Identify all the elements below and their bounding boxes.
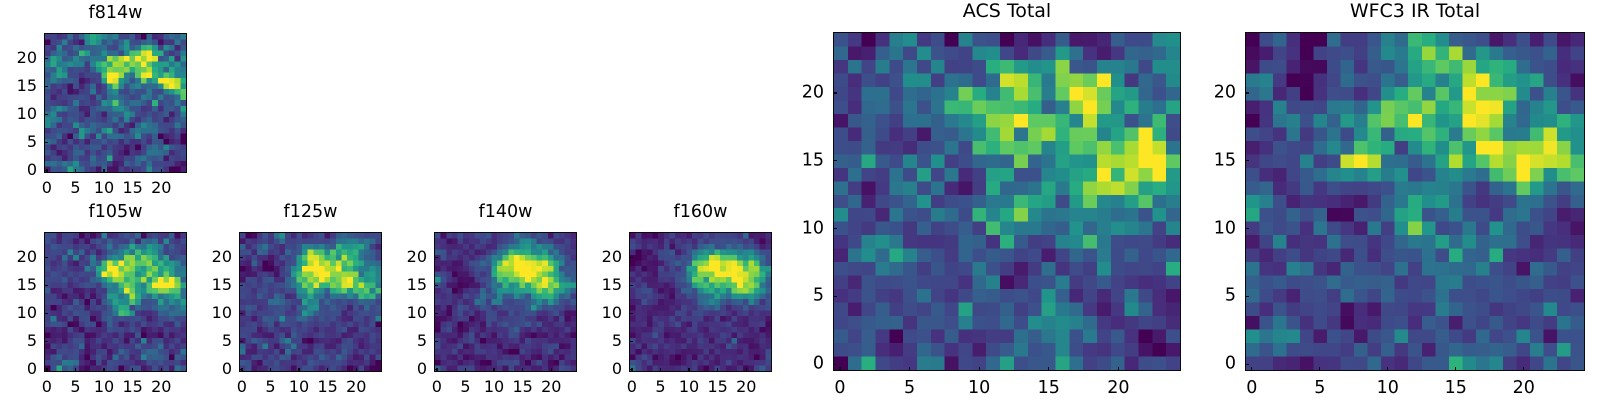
x-tick-mark	[270, 368, 271, 372]
y-tick-mark	[1245, 160, 1249, 161]
x-tick-label: 15	[1445, 380, 1467, 398]
x-tick-mark	[660, 368, 661, 372]
heatmap-image-acs-total	[834, 33, 1180, 370]
y-tick-label: 10	[602, 305, 622, 321]
y-tick-mark	[239, 341, 243, 342]
y-tick-mark	[1245, 228, 1249, 229]
x-tick-mark	[75, 368, 76, 372]
x-tick-label: 15	[1038, 380, 1060, 398]
y-tick-mark	[239, 285, 243, 286]
heatmap-image-f125w	[240, 233, 381, 371]
y-tick-mark	[434, 369, 438, 370]
panel-wfc3-ir-total: WFC3 IR Total 0510152005101520	[1245, 32, 1585, 371]
x-tick-mark	[1387, 367, 1388, 371]
y-tick-mark	[629, 313, 633, 314]
y-tick-label: 0	[813, 355, 824, 373]
y-tick-mark	[44, 58, 48, 59]
heatmap-axes-f140w[interactable]	[434, 232, 577, 372]
x-tick-label: 5	[70, 379, 80, 395]
y-tick-label: 0	[417, 361, 427, 377]
panel-acs-total: ACS Total 0510152005101520	[833, 32, 1181, 371]
x-tick-label: 0	[42, 379, 52, 395]
y-tick-mark	[44, 170, 48, 171]
y-tick-mark	[833, 228, 837, 229]
y-tick-label: 0	[612, 361, 622, 377]
y-tick-label: 10	[212, 305, 232, 321]
x-tick-label: 0	[1246, 380, 1257, 398]
y-tick-mark	[629, 369, 633, 370]
x-tick-mark	[1118, 367, 1119, 371]
panel-title-f125w: f125w	[239, 204, 382, 222]
x-tick-mark	[132, 368, 133, 372]
x-tick-mark	[551, 368, 552, 372]
y-tick-mark	[629, 285, 633, 286]
x-tick-label: 0	[627, 379, 637, 395]
y-tick-label: 15	[17, 277, 37, 293]
x-tick-label: 10	[968, 380, 990, 398]
y-tick-mark	[239, 257, 243, 258]
x-tick-mark	[688, 368, 689, 372]
y-tick-label: 5	[27, 134, 37, 150]
y-tick-label: 10	[17, 305, 37, 321]
x-tick-mark	[1455, 367, 1456, 371]
panel-title-wfc3-ir-total: WFC3 IR Total	[1245, 2, 1585, 21]
panel-f160w: f160w 0510152005101520	[629, 232, 772, 372]
x-tick-label: 5	[265, 379, 275, 395]
x-tick-label: 20	[1513, 380, 1535, 398]
x-tick-label: 5	[1314, 380, 1325, 398]
y-tick-mark	[434, 341, 438, 342]
y-tick-mark	[44, 313, 48, 314]
y-tick-mark	[833, 92, 837, 93]
y-tick-label: 20	[407, 249, 427, 265]
x-tick-mark	[327, 368, 328, 372]
panel-title-f814w: f814w	[44, 5, 187, 23]
y-tick-mark	[434, 285, 438, 286]
x-tick-label: 0	[42, 180, 52, 196]
heatmap-axes-acs-total[interactable]	[833, 32, 1181, 371]
y-tick-mark	[629, 257, 633, 258]
y-tick-mark	[629, 341, 633, 342]
x-tick-mark	[1523, 367, 1524, 371]
x-tick-mark	[103, 368, 104, 372]
x-tick-mark	[75, 169, 76, 173]
y-tick-mark	[833, 296, 837, 297]
x-tick-mark	[717, 368, 718, 372]
y-tick-label: 5	[813, 288, 824, 306]
y-tick-label: 20	[602, 249, 622, 265]
y-tick-mark	[239, 369, 243, 370]
x-tick-label: 5	[70, 180, 80, 196]
panel-f814w: f814w 0510152005101520	[44, 33, 187, 173]
y-tick-label: 10	[802, 220, 824, 238]
panel-title-f140w: f140w	[434, 204, 577, 222]
figure-canvas: f814w 0510152005101520 f105w 05101520051…	[0, 0, 1600, 400]
x-tick-mark	[493, 368, 494, 372]
x-tick-label: 20	[736, 379, 756, 395]
x-tick-label: 5	[655, 379, 665, 395]
x-tick-label: 15	[317, 379, 337, 395]
x-tick-mark	[1319, 367, 1320, 371]
x-tick-mark	[356, 368, 357, 372]
x-tick-label: 5	[904, 380, 915, 398]
y-tick-mark	[1245, 296, 1249, 297]
y-tick-label: 15	[407, 277, 427, 293]
y-tick-label: 0	[27, 361, 37, 377]
y-tick-label: 10	[17, 106, 37, 122]
y-tick-mark	[44, 369, 48, 370]
x-tick-mark	[103, 169, 104, 173]
y-tick-mark	[44, 86, 48, 87]
y-tick-label: 15	[802, 152, 824, 170]
panel-f140w: f140w 0510152005101520	[434, 232, 577, 372]
x-tick-label: 20	[1107, 380, 1129, 398]
y-tick-label: 0	[1225, 355, 1236, 373]
y-tick-mark	[833, 160, 837, 161]
y-tick-mark	[833, 364, 837, 365]
y-tick-mark	[1245, 92, 1249, 93]
y-tick-mark	[239, 313, 243, 314]
y-tick-label: 5	[1225, 288, 1236, 306]
y-tick-label: 0	[222, 361, 232, 377]
y-tick-mark	[44, 114, 48, 115]
heatmap-image-f140w	[435, 233, 576, 371]
x-tick-label: 10	[1377, 380, 1399, 398]
heatmap-image-f105w	[45, 233, 186, 371]
heatmap-image-f814w	[45, 34, 186, 172]
y-tick-mark	[434, 257, 438, 258]
y-tick-label: 15	[17, 78, 37, 94]
x-tick-mark	[1251, 367, 1252, 371]
x-tick-label: 10	[94, 379, 114, 395]
panel-title-f160w: f160w	[629, 204, 772, 222]
x-tick-mark	[161, 368, 162, 372]
x-tick-mark	[979, 367, 980, 371]
x-tick-mark	[909, 367, 910, 371]
panel-title-acs-total: ACS Total	[833, 2, 1181, 21]
x-tick-label: 0	[237, 379, 247, 395]
panel-f105w: f105w 0510152005101520	[44, 232, 187, 372]
x-tick-label: 10	[94, 180, 114, 196]
x-tick-label: 20	[346, 379, 366, 395]
y-tick-label: 20	[212, 249, 232, 265]
y-tick-label: 20	[802, 84, 824, 102]
y-tick-label: 5	[612, 333, 622, 349]
x-tick-label: 15	[707, 379, 727, 395]
heatmap-axes-f160w[interactable]	[629, 232, 772, 372]
y-tick-label: 10	[407, 305, 427, 321]
x-tick-mark	[839, 367, 840, 371]
x-tick-label: 20	[541, 379, 561, 395]
x-tick-label: 0	[432, 379, 442, 395]
y-tick-mark	[434, 313, 438, 314]
heatmap-axes-f125w[interactable]	[239, 232, 382, 372]
x-tick-label: 20	[151, 379, 171, 395]
x-tick-label: 15	[512, 379, 532, 395]
x-tick-mark	[746, 368, 747, 372]
y-tick-mark	[44, 285, 48, 286]
heatmap-axes-f814w[interactable]	[44, 33, 187, 173]
x-tick-label: 15	[122, 180, 142, 196]
y-tick-mark	[1245, 364, 1249, 365]
y-tick-mark	[44, 341, 48, 342]
x-tick-mark	[465, 368, 466, 372]
y-tick-label: 0	[27, 162, 37, 178]
heatmap-axes-wfc3-ir-total[interactable]	[1245, 32, 1585, 371]
heatmap-axes-f105w[interactable]	[44, 232, 187, 372]
y-tick-label: 20	[1214, 84, 1236, 102]
y-tick-label: 10	[1214, 220, 1236, 238]
y-tick-label: 20	[17, 249, 37, 265]
x-tick-label: 10	[679, 379, 699, 395]
y-tick-mark	[44, 142, 48, 143]
x-tick-mark	[298, 368, 299, 372]
panel-f125w: f125w 0510152005101520	[239, 232, 382, 372]
x-tick-mark	[161, 169, 162, 173]
y-tick-label: 15	[602, 277, 622, 293]
x-tick-label: 10	[289, 379, 309, 395]
x-tick-mark	[1048, 367, 1049, 371]
x-tick-mark	[132, 169, 133, 173]
x-tick-label: 10	[484, 379, 504, 395]
y-tick-mark	[44, 257, 48, 258]
x-tick-label: 20	[151, 180, 171, 196]
x-tick-mark	[522, 368, 523, 372]
y-tick-label: 15	[1214, 152, 1236, 170]
x-tick-label: 5	[460, 379, 470, 395]
panel-title-f105w: f105w	[44, 204, 187, 222]
heatmap-image-f160w	[630, 233, 771, 371]
y-tick-label: 20	[17, 50, 37, 66]
x-tick-label: 0	[834, 380, 845, 398]
x-tick-label: 15	[122, 379, 142, 395]
heatmap-image-wfc3-ir-total	[1246, 33, 1584, 370]
y-tick-label: 15	[212, 277, 232, 293]
y-tick-label: 5	[27, 333, 37, 349]
y-tick-label: 5	[222, 333, 232, 349]
y-tick-label: 5	[417, 333, 427, 349]
